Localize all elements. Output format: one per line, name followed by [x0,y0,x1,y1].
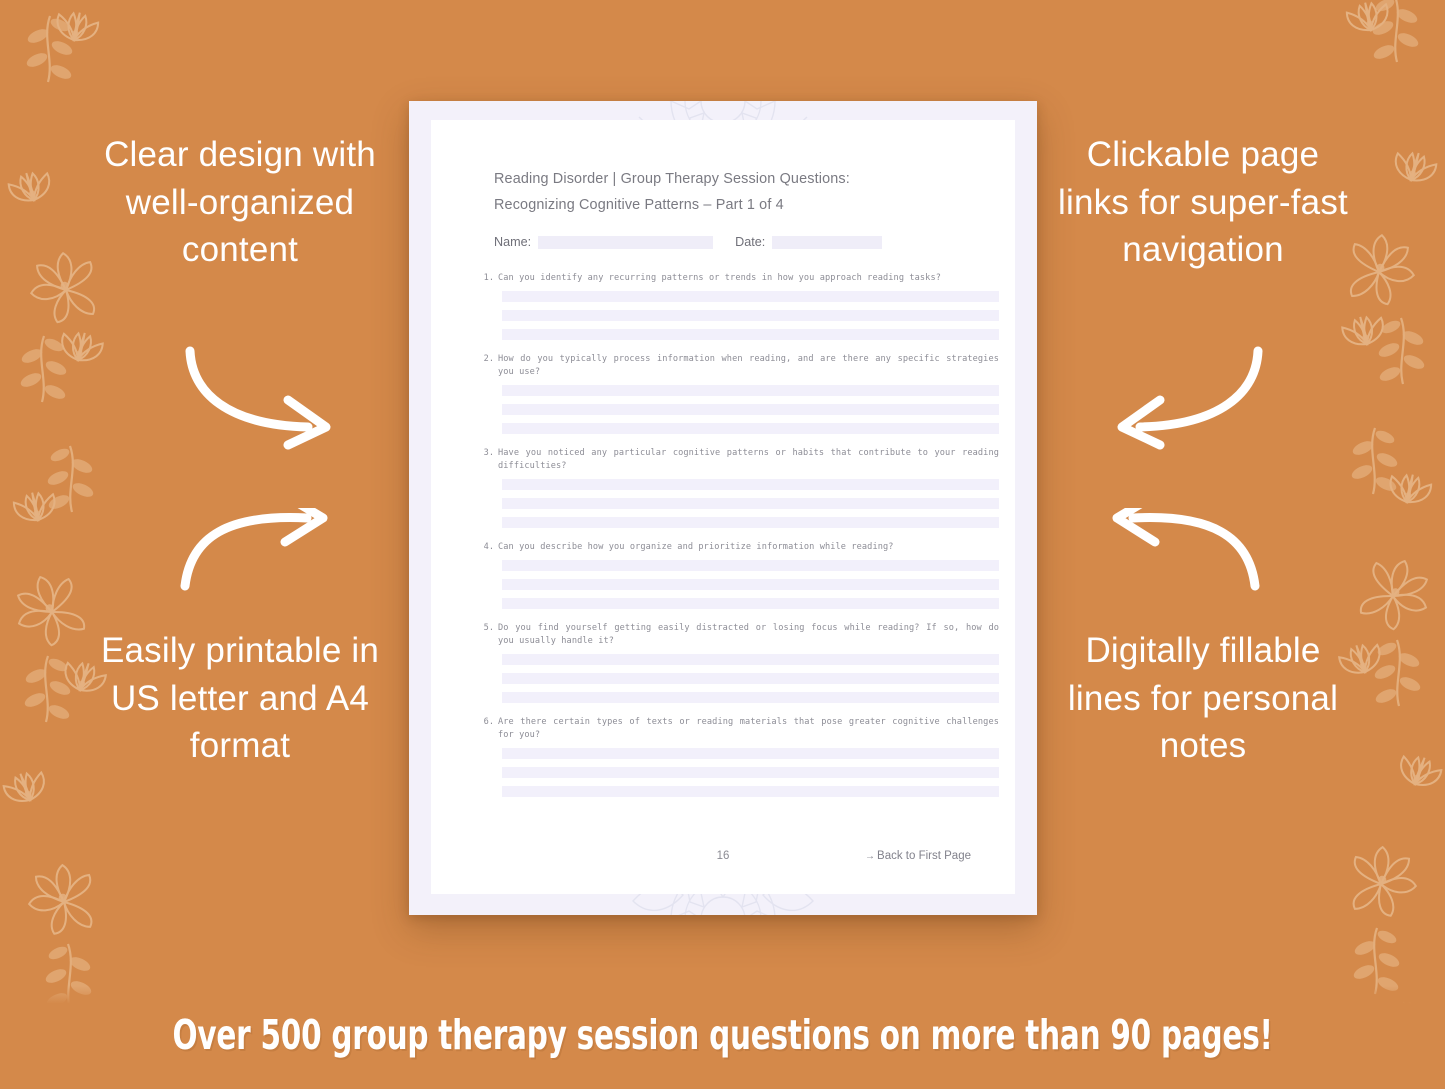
answer-lines [502,748,999,797]
question-number: 5. [479,622,498,634]
name-input[interactable] [538,236,713,249]
question-item: 5.Do you find yourself getting easily di… [479,622,999,703]
question-text: Have you noticed any particular cognitiv… [498,447,999,472]
question-item: 6.Are there certain types of texts or re… [479,716,999,797]
name-date-row: Name: Date: [494,235,964,249]
arrow-right-icon: → [865,851,875,862]
answer-line[interactable] [502,579,999,590]
question-number: 6. [479,716,498,728]
question-item: 1.Can you identify any recurring pattern… [479,272,999,340]
answer-line[interactable] [502,479,999,490]
answer-line[interactable] [502,598,999,609]
answer-line[interactable] [502,404,999,415]
question-text: How do you typically process information… [498,353,999,378]
answer-lines [502,654,999,703]
arrow-down-left-icon [1093,345,1268,450]
question-row: 3.Have you noticed any particular cognit… [479,447,999,472]
question-number: 1. [479,272,498,284]
answer-line[interactable] [502,498,999,509]
page-title-line-1: Reading Disorder | Group Therapy Session… [494,166,964,192]
answer-line[interactable] [502,291,999,302]
worksheet-page[interactable]: Reading Disorder | Group Therapy Session… [409,101,1037,915]
question-text: Do you find yourself getting easily dist… [498,622,999,647]
document-footer: 16 →Back to First Page [431,850,1015,868]
name-label: Name: [494,235,531,249]
answer-lines [502,385,999,434]
promo-stage: Clear design with well-organized content… [0,0,1445,1084]
answer-line[interactable] [502,517,999,528]
caption-top-left: Clear design with well-organized content [84,131,396,274]
date-label: Date: [735,235,765,249]
answer-lines [502,560,999,609]
question-row: 1.Can you identify any recurring pattern… [479,272,999,284]
answer-line[interactable] [502,423,999,434]
arrow-up-right-icon [175,508,350,613]
answer-line[interactable] [502,786,999,797]
answer-line[interactable] [502,748,999,759]
answer-line[interactable] [502,767,999,778]
question-text: Can you describe how you organize and pr… [498,541,999,553]
date-input[interactable] [772,236,882,249]
question-list: 1.Can you identify any recurring pattern… [479,272,999,810]
bottom-banner: Over 500 group therapy session questions… [0,986,1445,1084]
back-to-first-page-link[interactable]: →Back to First Page [865,850,971,862]
answer-lines [502,479,999,528]
banner-text: Over 500 group therapy session questions… [172,1011,1272,1059]
question-item: 2.How do you typically process informati… [479,353,999,434]
question-row: 2.How do you typically process informati… [479,353,999,378]
arrow-down-right-icon [180,345,355,450]
worksheet-content: Reading Disorder | Group Therapy Session… [431,120,1015,894]
answer-line[interactable] [502,560,999,571]
answer-line[interactable] [502,673,999,684]
answer-lines [502,291,999,340]
question-item: 3.Have you noticed any particular cognit… [479,447,999,528]
question-number: 4. [479,541,498,553]
back-to-first-page-label: Back to First Page [877,850,971,862]
question-text: Are there certain types of texts or read… [498,716,999,741]
arrow-up-left-icon [1090,508,1265,613]
answer-line[interactable] [502,654,999,665]
question-item: 4.Can you describe how you organize and … [479,541,999,609]
caption-top-right: Clickable page links for super-fast navi… [1047,131,1359,274]
question-row: 5.Do you find yourself getting easily di… [479,622,999,647]
document-header: Reading Disorder | Group Therapy Session… [494,166,964,218]
answer-line[interactable] [502,692,999,703]
question-text: Can you identify any recurring patterns … [498,272,999,284]
question-row: 4.Can you describe how you organize and … [479,541,999,553]
answer-line[interactable] [502,310,999,321]
answer-line[interactable] [502,329,999,340]
question-number: 2. [479,353,498,365]
caption-bottom-right: Digitally fillable lines for personal no… [1047,627,1359,770]
page-title-line-2: Recognizing Cognitive Patterns – Part 1 … [494,192,964,218]
caption-bottom-left: Easily printable in US letter and A4 for… [84,627,396,770]
question-row: 6.Are there certain types of texts or re… [479,716,999,741]
question-number: 3. [479,447,498,459]
answer-line[interactable] [502,385,999,396]
